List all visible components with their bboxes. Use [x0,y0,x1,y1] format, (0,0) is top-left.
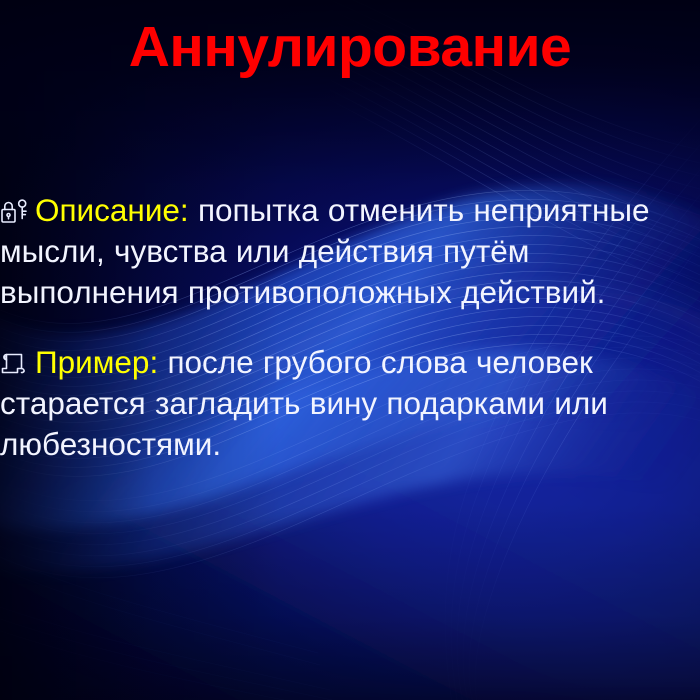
bullet-description: Описание: попытка отменить неприятные мы… [0,190,700,313]
slide-title: Аннулирование [0,16,700,79]
scroll-icon [0,348,30,378]
bullet-description-label: Описание: [35,192,189,228]
slide-body: Описание: попытка отменить неприятные мы… [0,190,700,465]
lock-with-key-icon [0,196,30,226]
bullet-example-label: Пример: [35,344,158,380]
bullet-example: Пример: после грубого слова человек стар… [0,342,700,465]
presentation-slide: Аннулирование Описание: попытка отменить… [0,0,700,700]
